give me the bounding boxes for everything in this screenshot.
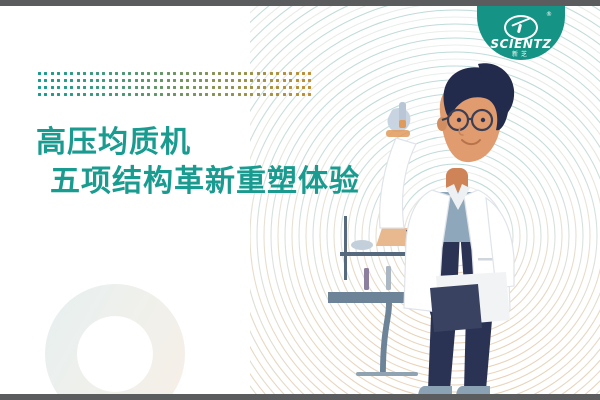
dot xyxy=(250,72,253,75)
dot xyxy=(57,72,60,75)
dot xyxy=(257,79,260,82)
dot xyxy=(141,93,144,96)
dot xyxy=(51,93,54,96)
dot xyxy=(205,72,208,75)
dot xyxy=(147,86,150,89)
dot xyxy=(83,72,86,75)
dot-gradient-band xyxy=(38,72,314,102)
dot xyxy=(296,93,299,96)
dot xyxy=(77,86,80,89)
dot xyxy=(238,86,241,89)
coat-sleeve-raised xyxy=(380,138,416,228)
dot xyxy=(257,93,260,96)
dot xyxy=(193,93,196,96)
dot xyxy=(296,72,299,75)
dot xyxy=(64,79,67,82)
dot xyxy=(180,93,183,96)
dot xyxy=(64,86,67,89)
dot xyxy=(154,79,157,82)
dot xyxy=(154,93,157,96)
dot xyxy=(244,93,247,96)
dot xyxy=(173,93,176,96)
dot xyxy=(44,79,47,82)
dot xyxy=(218,72,221,75)
dot xyxy=(225,86,228,89)
dot xyxy=(250,79,253,82)
dot xyxy=(70,86,73,89)
dot xyxy=(102,93,105,96)
dot xyxy=(186,86,189,89)
headline-line-2: 五项结构革新重塑体验 xyxy=(36,162,360,202)
dot xyxy=(147,79,150,82)
dot xyxy=(57,93,60,96)
dot xyxy=(212,79,215,82)
dot xyxy=(270,93,273,96)
dot xyxy=(109,72,112,75)
dot xyxy=(238,79,241,82)
dot xyxy=(212,72,215,75)
dot xyxy=(115,86,118,89)
dot xyxy=(109,86,112,89)
dot xyxy=(51,86,54,89)
glove xyxy=(387,108,410,132)
dot xyxy=(90,93,93,96)
dot-row xyxy=(38,79,314,86)
dot xyxy=(154,86,157,89)
dot xyxy=(167,86,170,89)
dot xyxy=(135,93,138,96)
dot xyxy=(122,72,125,75)
dot xyxy=(289,79,292,82)
dot xyxy=(96,72,99,75)
dot xyxy=(160,72,163,75)
dot xyxy=(38,86,41,89)
dot xyxy=(283,86,286,89)
dot xyxy=(289,93,292,96)
dot xyxy=(257,86,260,89)
dot xyxy=(270,86,273,89)
dot xyxy=(257,72,260,75)
dot xyxy=(83,86,86,89)
dot xyxy=(186,93,189,96)
dot xyxy=(218,86,221,89)
clipboard-icon xyxy=(430,284,482,332)
dot xyxy=(115,72,118,75)
dot xyxy=(225,72,228,75)
dot xyxy=(83,93,86,96)
dot xyxy=(77,93,80,96)
registered-mark: ® xyxy=(546,12,552,18)
dot xyxy=(147,93,150,96)
dot xyxy=(77,72,80,75)
dot xyxy=(141,72,144,75)
dot xyxy=(238,93,241,96)
dot xyxy=(128,93,131,96)
dot xyxy=(193,79,196,82)
dot xyxy=(83,79,86,82)
dot xyxy=(263,72,266,75)
headline-block: 高压均质机 五项结构革新重塑体验 xyxy=(36,124,360,202)
dot xyxy=(199,79,202,82)
dot xyxy=(231,93,234,96)
dot xyxy=(263,86,266,89)
dot xyxy=(173,72,176,75)
eye-left xyxy=(457,118,461,122)
dot xyxy=(296,86,299,89)
dot xyxy=(180,72,183,75)
dot xyxy=(44,72,47,75)
dot xyxy=(186,72,189,75)
dot xyxy=(276,93,279,96)
dot xyxy=(276,86,279,89)
dot xyxy=(122,79,125,82)
dot xyxy=(122,93,125,96)
dot xyxy=(167,93,170,96)
dot xyxy=(154,72,157,75)
eye-right xyxy=(481,118,485,122)
dot xyxy=(244,79,247,82)
dot xyxy=(296,79,299,82)
dot xyxy=(244,86,247,89)
dot xyxy=(244,72,247,75)
dot xyxy=(141,79,144,82)
dot xyxy=(90,79,93,82)
dot xyxy=(199,93,202,96)
dot-row xyxy=(38,86,314,93)
dot xyxy=(231,72,234,75)
dot xyxy=(128,79,131,82)
promo-banner: 高压均质机 五项结构革新重塑体验 ® SCIENTZ 新芝 xyxy=(0,0,600,400)
dot xyxy=(173,79,176,82)
dot xyxy=(70,79,73,82)
dot xyxy=(205,86,208,89)
tube-grey xyxy=(386,266,391,290)
dot xyxy=(135,72,138,75)
logo-chinese-name: 新芝 xyxy=(477,49,565,58)
dot xyxy=(96,79,99,82)
dot xyxy=(102,79,105,82)
headline-line-1: 高压均质机 xyxy=(36,124,360,162)
dot-row xyxy=(38,72,314,79)
dot xyxy=(167,79,170,82)
dot xyxy=(64,93,67,96)
dot xyxy=(64,72,67,75)
dot xyxy=(115,79,118,82)
dot xyxy=(90,72,93,75)
dot xyxy=(70,72,73,75)
dot xyxy=(193,72,196,75)
dot xyxy=(128,72,131,75)
dot xyxy=(212,86,215,89)
dot xyxy=(263,79,266,82)
dot xyxy=(160,79,163,82)
dot xyxy=(180,86,183,89)
dot xyxy=(44,86,47,89)
dot xyxy=(231,79,234,82)
dot xyxy=(147,72,150,75)
dot xyxy=(102,72,105,75)
dot xyxy=(38,93,41,96)
dot xyxy=(180,79,183,82)
dot xyxy=(90,86,93,89)
dot xyxy=(225,93,228,96)
dot xyxy=(96,93,99,96)
dot xyxy=(218,79,221,82)
dot xyxy=(51,79,54,82)
dot xyxy=(289,86,292,89)
dot xyxy=(199,86,202,89)
dot xyxy=(238,72,241,75)
dot xyxy=(205,93,208,96)
dot xyxy=(276,79,279,82)
tube-purple xyxy=(364,268,369,290)
scientist-illustration xyxy=(300,20,600,400)
dot xyxy=(115,93,118,96)
dot xyxy=(96,86,99,89)
dot xyxy=(250,86,253,89)
dot xyxy=(205,79,208,82)
dot xyxy=(186,79,189,82)
dot xyxy=(122,86,125,89)
table-base xyxy=(356,372,418,376)
dot xyxy=(212,93,215,96)
dot xyxy=(38,72,41,75)
dot xyxy=(141,86,144,89)
dot xyxy=(167,72,170,75)
dot xyxy=(102,86,105,89)
dot xyxy=(160,86,163,89)
dot xyxy=(270,79,273,82)
dot xyxy=(128,86,131,89)
bowl xyxy=(351,240,373,250)
dot xyxy=(160,93,163,96)
dot xyxy=(193,86,196,89)
dot xyxy=(250,93,253,96)
dot-row xyxy=(38,93,314,100)
dot xyxy=(283,93,286,96)
scientz-logo[interactable]: ® SCIENTZ 新芝 xyxy=(477,6,565,60)
dot xyxy=(44,93,47,96)
dot xyxy=(109,93,112,96)
dot xyxy=(57,79,60,82)
dot xyxy=(276,72,279,75)
dot xyxy=(231,86,234,89)
dot xyxy=(77,79,80,82)
shoe-left xyxy=(418,386,452,398)
dot xyxy=(283,72,286,75)
dot xyxy=(38,79,41,82)
dot xyxy=(135,86,138,89)
dot xyxy=(270,72,273,75)
dot xyxy=(263,93,266,96)
sleeve-cuff xyxy=(386,130,410,137)
shoe-right xyxy=(456,386,490,398)
dot xyxy=(70,93,73,96)
dot xyxy=(199,72,202,75)
dot xyxy=(225,79,228,82)
dot xyxy=(57,86,60,89)
dot xyxy=(218,93,221,96)
dot xyxy=(51,72,54,75)
dot xyxy=(109,79,112,82)
dot xyxy=(135,79,138,82)
dot xyxy=(283,79,286,82)
dot xyxy=(289,72,292,75)
decorative-donut-ring xyxy=(45,284,185,394)
dot xyxy=(173,86,176,89)
